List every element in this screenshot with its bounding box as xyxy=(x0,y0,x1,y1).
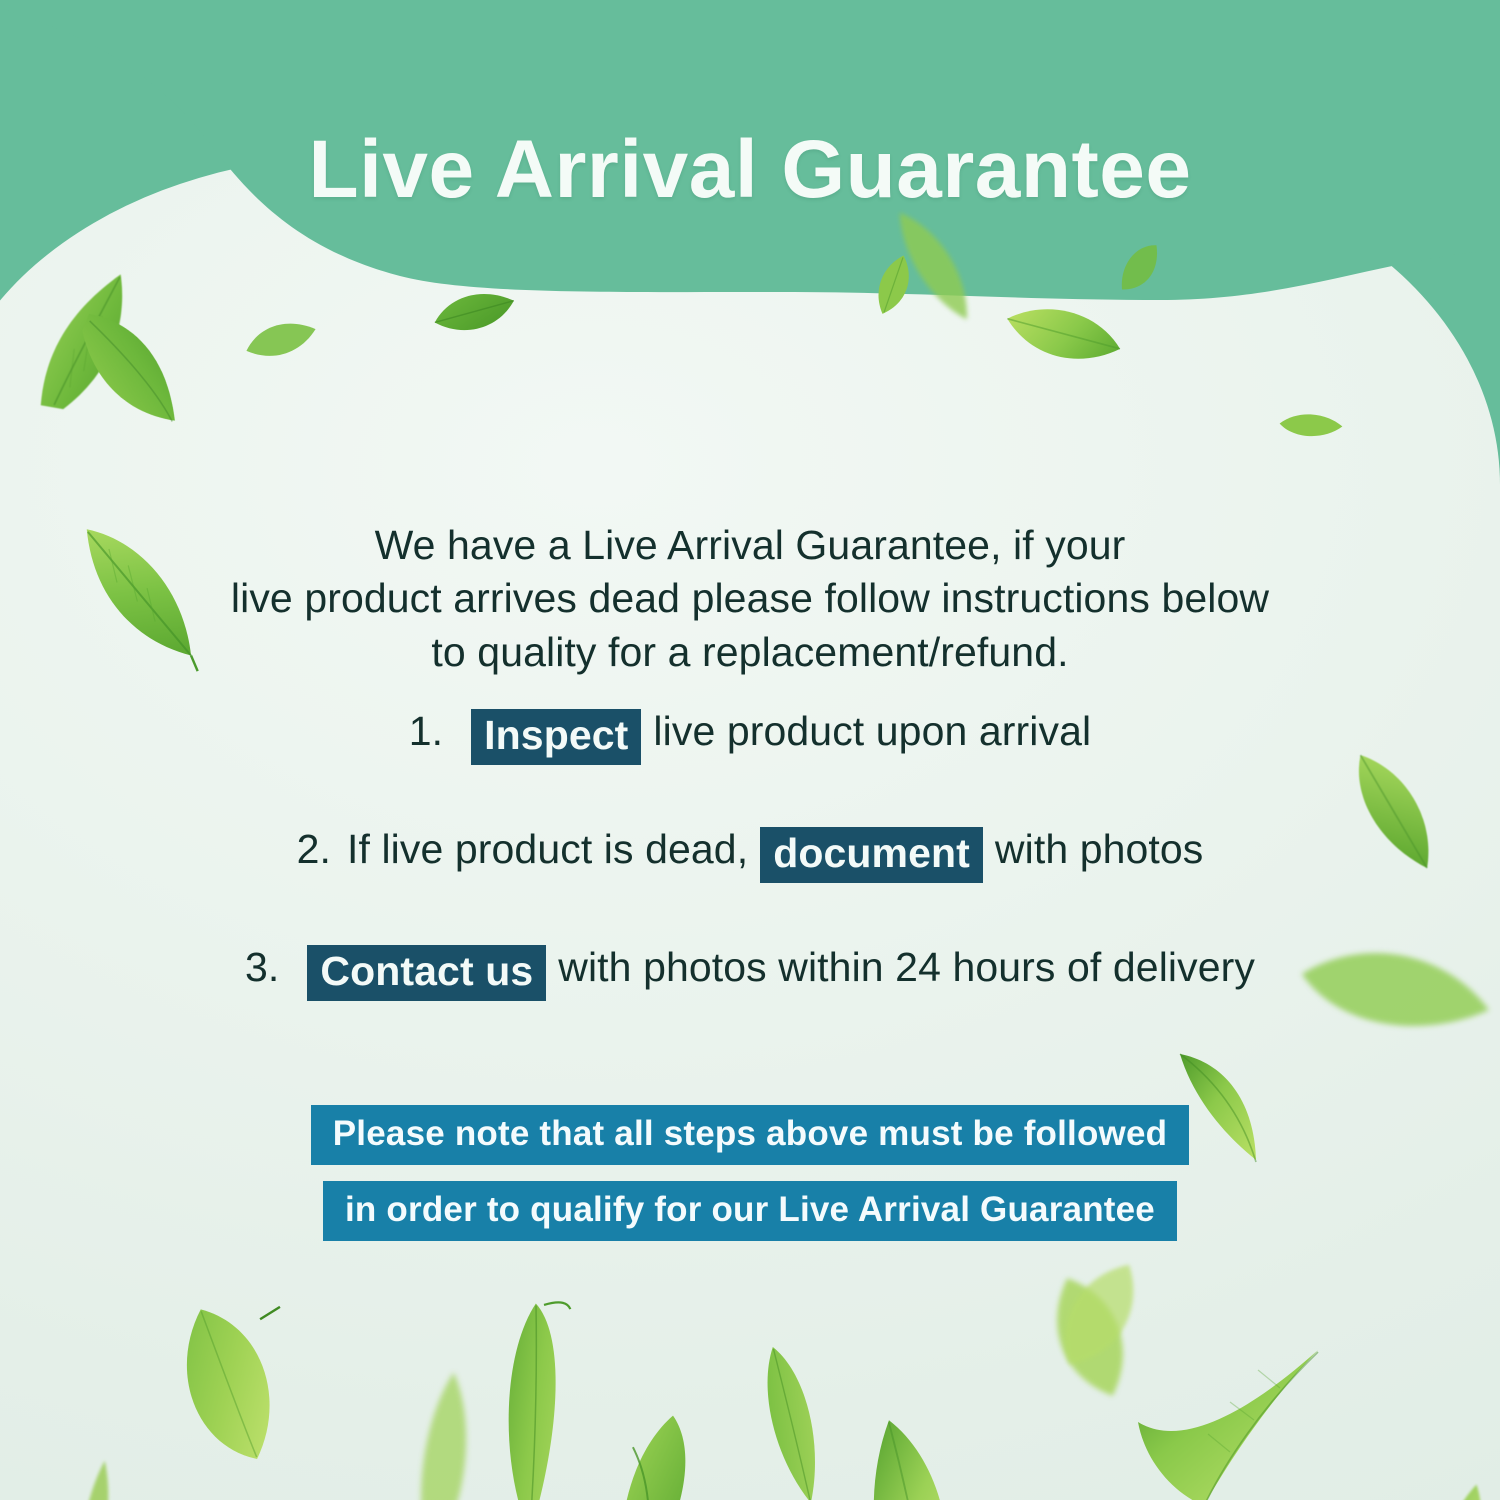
page-title-container: Live Arrival Guarantee xyxy=(0,72,1500,268)
page-title: Live Arrival Guarantee xyxy=(308,127,1191,213)
step-highlight-inspect[interactable]: Inspect xyxy=(471,709,641,765)
intro-line-1: We have a Live Arrival Guarantee, if you… xyxy=(150,519,1350,572)
intro-line-2: live product arrives dead please follow … xyxy=(150,572,1350,625)
intro-paragraph: We have a Live Arrival Guarantee, if you… xyxy=(150,519,1350,679)
notice-line-1: Please note that all steps above must be… xyxy=(311,1105,1189,1165)
steps-list: 1. Inspect live product upon arrival 2. … xyxy=(0,705,1500,1059)
step-highlight-contact-us[interactable]: Contact us xyxy=(307,945,546,1001)
intro-line-3: to quality for a replacement/refund. xyxy=(150,626,1350,679)
step-number: 2. xyxy=(297,826,331,873)
notice-banner-group: Please note that all steps above must be… xyxy=(0,1105,1500,1241)
step-highlight-document[interactable]: document xyxy=(760,827,983,883)
step-text-after: with photos within 24 hours of delivery xyxy=(558,944,1255,991)
step-text-after: with photos xyxy=(995,826,1204,873)
step-text-before: If live product is dead, xyxy=(347,826,748,873)
step-item-1: 1. Inspect live product upon arrival xyxy=(0,705,1500,823)
step-item-2: 2. If live product is dead, document wit… xyxy=(0,823,1500,941)
step-number: 1. xyxy=(409,708,443,755)
step-number: 3. xyxy=(245,944,279,991)
step-text-after: live product upon arrival xyxy=(653,708,1091,755)
notice-line-2: in order to qualify for our Live Arrival… xyxy=(323,1181,1177,1241)
live-arrival-guarantee-poster: Live Arrival Guarantee We have a Live Ar… xyxy=(0,0,1500,1500)
step-item-3: 3. Contact us with photos within 24 hour… xyxy=(0,941,1500,1059)
